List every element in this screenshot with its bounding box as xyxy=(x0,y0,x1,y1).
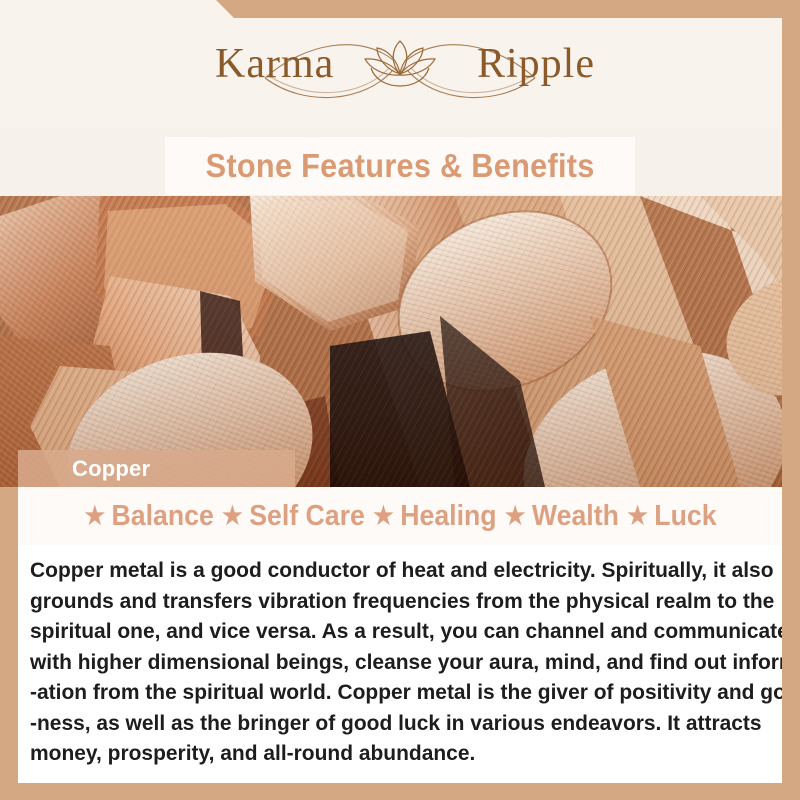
star-icon: ★ xyxy=(80,501,110,531)
description-line: Copper metal is a good conductor of heat… xyxy=(30,555,750,586)
page-title: Stone Features & Benefits xyxy=(205,147,594,185)
star-icon: ★ xyxy=(369,501,399,531)
logo-word-karma: Karma xyxy=(215,43,334,85)
description-line: with higher dimensional beings, cleanse … xyxy=(30,647,750,678)
brand-logo: Karma Ripple xyxy=(165,16,635,112)
star-icon: ★ xyxy=(500,501,530,531)
benefits-strip: ★ Balance ★ Self Care ★ Healing ★ Wealth… xyxy=(0,487,800,545)
brand-header: Karma Ripple xyxy=(0,0,800,128)
section-title-band: Stone Features & Benefits xyxy=(165,137,635,195)
description-line: -ation from the spiritual world. Copper … xyxy=(30,677,750,708)
benefit-item-balance: Balance xyxy=(110,500,218,533)
photo-artwork xyxy=(0,196,800,487)
star-icon: ★ xyxy=(623,501,653,531)
benefit-item-healing: Healing xyxy=(398,500,500,533)
logo-wordmark: Karma Ripple xyxy=(165,16,635,112)
star-icon: ★ xyxy=(217,501,247,531)
benefit-item-self-care: Self Care xyxy=(247,500,368,533)
benefits-list: ★ Balance ★ Self Care ★ Healing ★ Wealth… xyxy=(80,500,720,533)
benefit-item-wealth: Wealth xyxy=(530,500,623,533)
copper-bars-photo: Copper xyxy=(0,196,800,487)
benefit-item-luck: Luck xyxy=(652,500,720,533)
frame-left-accent xyxy=(0,487,18,800)
description-line: grounds and transfers vibration frequenc… xyxy=(30,586,750,617)
logo-word-ripple: Ripple xyxy=(477,43,595,85)
description-line: money, prosperity, and all-round abundan… xyxy=(30,738,750,769)
description-line: spiritual one, and vice versa. As a resu… xyxy=(30,616,750,647)
frame-bottom-accent xyxy=(0,783,800,800)
frame-right-accent xyxy=(782,0,800,800)
description-line: -ness, as well as the bringer of good lu… xyxy=(30,708,750,739)
description-block: Copper metal is a good conductor of heat… xyxy=(18,545,782,783)
photo-caption-bar: Copper xyxy=(18,450,295,487)
stone-name-label: Copper xyxy=(18,456,150,482)
